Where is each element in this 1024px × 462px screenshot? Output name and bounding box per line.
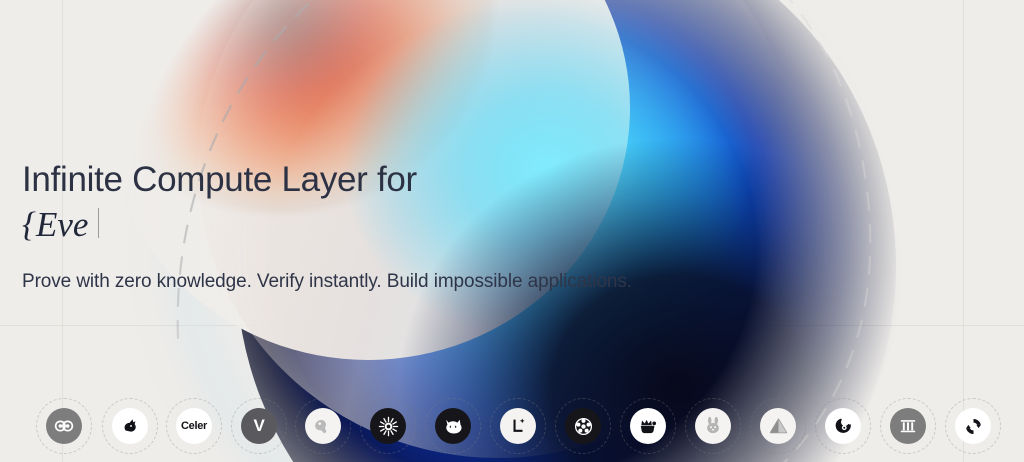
cat-face-logo[interactable] <box>425 398 481 454</box>
atom-cluster-logo-mark <box>565 408 601 444</box>
typing-caret <box>98 208 99 238</box>
circular-arrows-logo-mark <box>955 408 991 444</box>
bunny-logo-mark <box>695 408 731 444</box>
hero-section: Infinite Compute Layer for {Eve Prove wi… <box>0 0 1024 462</box>
partner-logo-strip: CelerV <box>0 398 1024 462</box>
l-star-logo[interactable] <box>490 398 546 454</box>
headline-line-1: Infinite Compute Layer for <box>22 160 417 199</box>
celer-logo[interactable]: Celer <box>166 398 222 454</box>
atom-cluster-logo[interactable] <box>555 398 611 454</box>
goggles-infinity-logo[interactable] <box>36 398 92 454</box>
swirl-bird-logo-mark <box>825 408 861 444</box>
hero-subheadline: Prove with zero knowledge. Verify instan… <box>22 271 812 293</box>
pillar-logo-mark <box>890 408 926 444</box>
goggles-infinity-logo-mark <box>46 408 82 444</box>
grid-line-vertical-right <box>963 0 964 462</box>
pillar-logo[interactable] <box>880 398 936 454</box>
page-title: Infinite Compute Layer for {Eve <box>22 158 812 247</box>
crown-creature-logo[interactable] <box>620 398 676 454</box>
v-letter-logo[interactable]: V <box>231 398 287 454</box>
circular-arrows-logo[interactable] <box>945 398 1001 454</box>
sunburst-logo[interactable] <box>360 398 416 454</box>
pyramid-logo-mark <box>760 408 796 444</box>
crown-creature-logo-mark <box>630 408 666 444</box>
pyramid-logo[interactable] <box>750 398 806 454</box>
headline-line-2: {Eve <box>22 203 812 247</box>
celer-logo-mark: Celer <box>176 408 212 444</box>
hero-copy: Infinite Compute Layer for {Eve Prove wi… <box>22 158 812 293</box>
swirl-bird-logo[interactable] <box>815 398 871 454</box>
l-star-logo-mark <box>500 408 536 444</box>
typed-word: {Eve <box>22 203 88 248</box>
unicorn-logo[interactable] <box>102 398 158 454</box>
sunburst-logo-mark <box>370 408 406 444</box>
blob-shape-logo[interactable] <box>295 398 351 454</box>
unicorn-logo-mark <box>112 408 148 444</box>
bunny-logo[interactable] <box>685 398 741 454</box>
v-letter-logo-mark: V <box>241 408 277 444</box>
grid-line-horizontal <box>0 325 1024 326</box>
blob-shape-logo-mark <box>305 408 341 444</box>
cat-face-logo-mark <box>435 408 471 444</box>
